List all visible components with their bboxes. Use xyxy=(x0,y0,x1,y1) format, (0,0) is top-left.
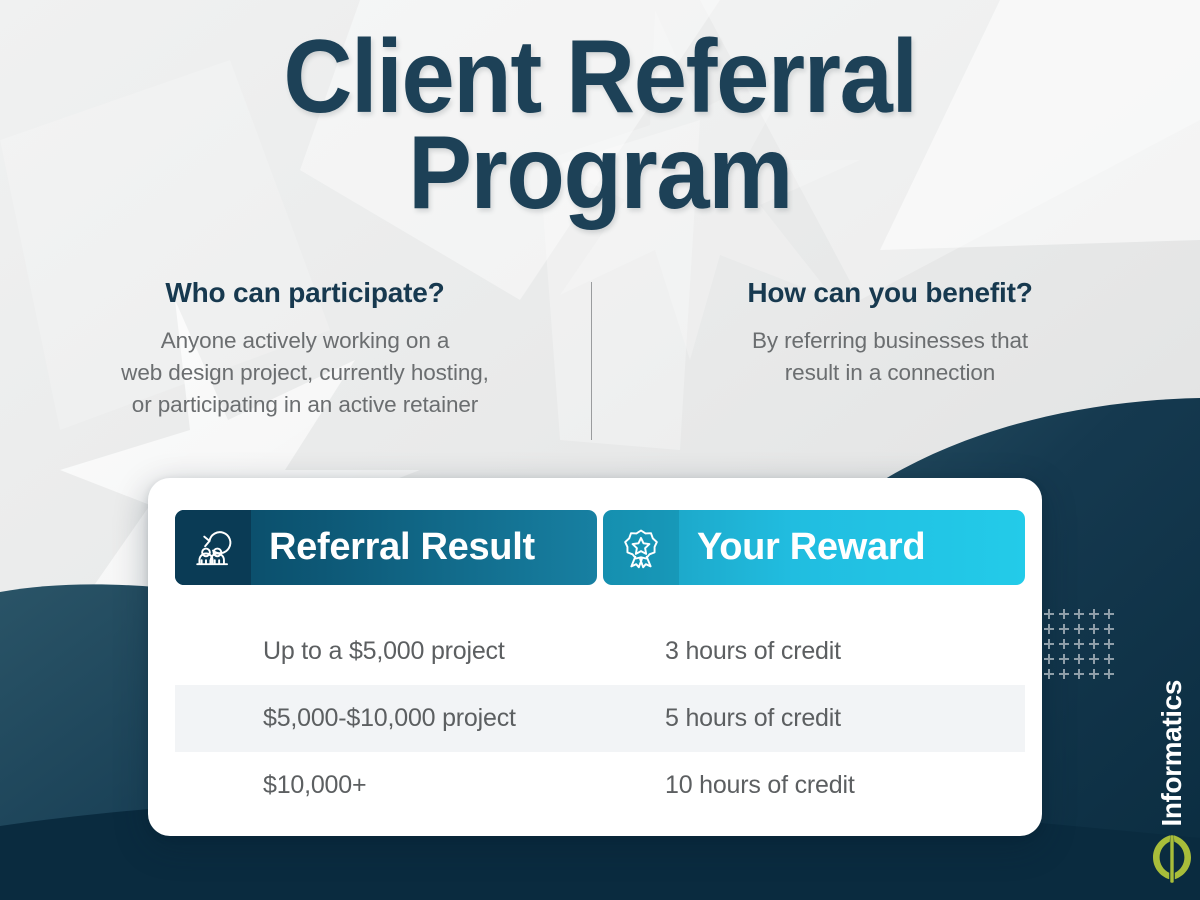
participate-body-line-1: Anyone actively working on a xyxy=(40,325,570,357)
benefit-body-line-1: By referring businesses that xyxy=(620,325,1160,357)
table-header-label-result: Referral Result xyxy=(251,526,535,569)
table-header-label-reward: Your Reward xyxy=(679,526,925,569)
brand-rail: Informatics xyxy=(1030,560,1200,900)
page-title-line-1: Client Referral xyxy=(48,30,1152,126)
participate-heading: Who can participate? xyxy=(40,278,570,309)
cell-referral-result: $5,000-$10,000 project xyxy=(175,685,603,752)
table-header-your-reward: Your Reward xyxy=(603,510,1025,585)
benefit-body: By referring businesses that result in a… xyxy=(620,325,1160,389)
table-row: $10,000+ 10 hours of credit xyxy=(148,752,1042,819)
award-ribbon-icon xyxy=(603,510,679,585)
brand-name: Informatics xyxy=(1156,680,1188,827)
plus-pattern-icon xyxy=(1042,606,1122,686)
referral-group-icon xyxy=(175,510,251,585)
page-title-line-2: Program xyxy=(48,126,1152,222)
cell-your-reward: 10 hours of credit xyxy=(603,752,1025,819)
table-row: $5,000-$10,000 project 5 hours of credit xyxy=(148,685,1042,752)
table-row: Up to a $5,000 project 3 hours of credit xyxy=(148,618,1042,685)
participate-body: Anyone actively working on a web design … xyxy=(40,325,570,421)
info-column-benefit: How can you benefit? By referring busine… xyxy=(620,278,1160,389)
reward-table-card: Referral Result Your Reward Up to a $5,0… xyxy=(148,478,1042,836)
cell-referral-result: Up to a $5,000 project xyxy=(175,618,603,685)
info-column-participate: Who can participate? Anyone actively wor… xyxy=(40,278,570,421)
participate-body-line-3: or participating in an active retainer xyxy=(40,389,570,421)
infographic-canvas: Client Referral Program Who can particip… xyxy=(0,0,1200,900)
participate-body-line-2: web design project, currently hosting, xyxy=(40,357,570,389)
column-divider xyxy=(591,282,592,440)
benefit-heading: How can you benefit? xyxy=(620,278,1160,309)
benefit-body-line-2: result in a connection xyxy=(620,357,1160,389)
brand-logo: Informatics xyxy=(1150,680,1194,890)
info-columns: Who can participate? Anyone actively wor… xyxy=(0,278,1200,448)
informatics-leaf-logo-icon xyxy=(1150,833,1194,890)
cell-referral-result: $10,000+ xyxy=(175,752,603,819)
table-header-referral-result: Referral Result xyxy=(175,510,597,585)
page-title: Client Referral Program xyxy=(48,30,1152,221)
cell-your-reward: 5 hours of credit xyxy=(603,685,1025,752)
cell-your-reward: 3 hours of credit xyxy=(603,618,1025,685)
table-body: Up to a $5,000 project 3 hours of credit… xyxy=(148,618,1042,819)
